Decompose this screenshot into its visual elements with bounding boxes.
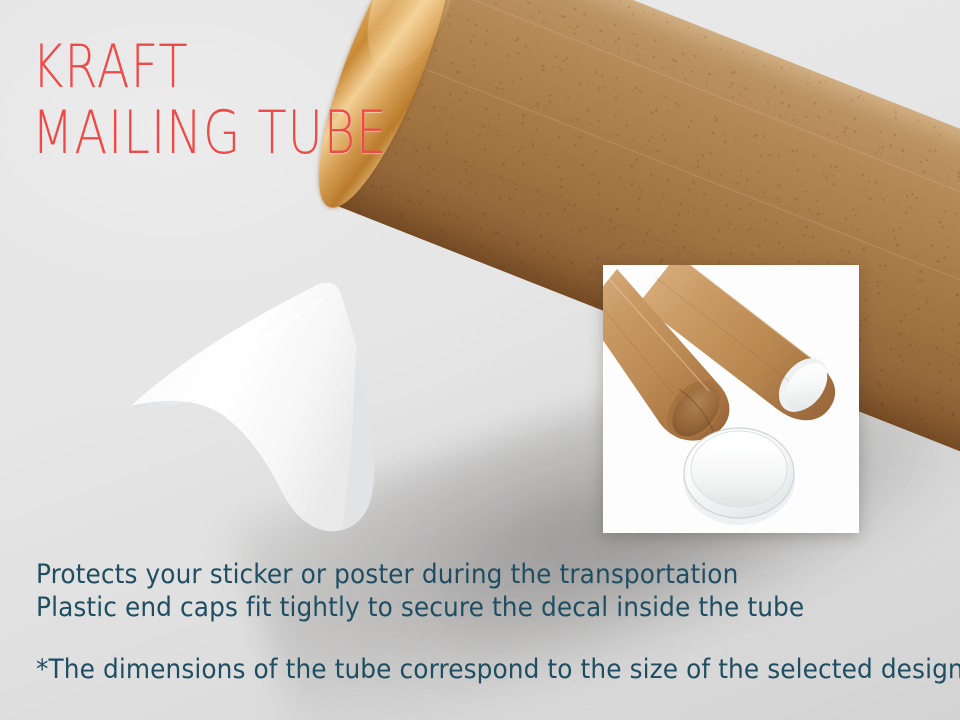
title-line-2: MAILING TUBE: [32, 98, 387, 168]
inset-loose-end-cap: [683, 428, 795, 525]
feature-line-2: Plastic end caps fit tightly to secure t…: [36, 592, 804, 623]
white-poster-curl: [128, 258, 458, 538]
title-line-1: KRAFT: [32, 32, 189, 102]
feature-line-1: Protects your sticker or poster during t…: [36, 559, 738, 590]
feature-list: Protects your sticker or poster during t…: [36, 558, 804, 624]
footnote: *The dimensions of the tube correspond t…: [36, 653, 960, 686]
inset-product-photo: [603, 265, 859, 533]
product-banner: KRAFT MAILING TUBE Protects your sticker…: [0, 0, 960, 720]
page-title: KRAFT MAILING TUBE: [32, 34, 387, 166]
